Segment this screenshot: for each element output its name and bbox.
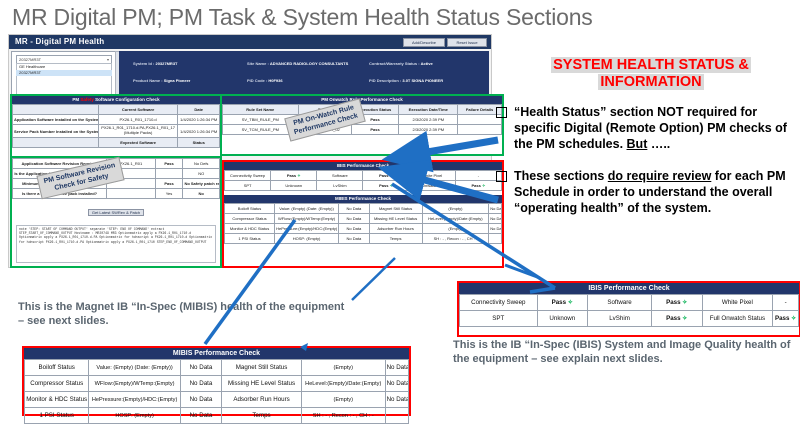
caption-ibis: This is the IB “In-Spec (IBIS) System an… [453,338,798,366]
mibis-inline-title: MIBIS Performance Check [224,195,502,203]
bullet-item-2: These sections do require review for eac… [496,168,796,216]
mibis-callout-title: MIBIS Performance Check [24,348,409,359]
status-star-icon: ✧ [297,173,300,178]
table-row: 1 PSI StatusHOSP: (Empty)No DataTempsSH … [225,234,502,244]
info-contract-status: Contract/Warranty Status : Active [369,61,433,66]
app-window-title: MR - Digital PM Health [15,37,104,46]
sw-config-title: PM Safety Software Configuration Check [12,96,220,104]
bullet-1-text: “Health Status” section NOT required for… [514,104,796,152]
get-latest-swrev-row: Get Latest SWRev & Patch [12,201,220,219]
annotation-title-line2: INFORMATION [598,74,703,90]
caption-mibis: This is the Magnet IB “In-Spec (MIBIS) h… [18,300,348,328]
mibis-callout-table: MIBIS Performance Check Boiloff StatusVa… [22,346,411,416]
reset-issue-button[interactable]: Reset Issue [447,38,487,47]
mibis-inline-table: Boiloff StatusValue: (Empty) (Date: (Emp… [224,203,502,244]
status-star-icon: ✧ [482,183,485,188]
status-star-icon: ✧ [568,299,573,306]
sw-config-subheader-row: Expected SoftwareStatus [13,138,220,148]
sw-config-table: Current SoftwareDate Application Softwar… [12,104,220,148]
arrow-ibis-callout-link [505,265,540,278]
table-row: 1 PSI StatusHOSP: (Empty)No DataTempsSH … [25,408,409,424]
command-output-log: note 'STEP: START OF COMMAND OUTPUT' sep… [16,225,216,263]
add-describe-button[interactable]: Add/Describe [403,38,445,47]
status-star-icon: ✧ [682,315,687,322]
table-row: SPT Unknown LvShim Pass ✧ Full Onwatch S… [225,181,502,191]
table-row: Service Pack Number Installed on the Sys… [13,125,220,138]
table-row: Connectivity Sweep Pass ✧ Software Pass … [225,171,502,181]
get-latest-swrev-button[interactable]: Get Latest SWRev & Patch [88,209,144,216]
table-row: Monitor & HDC StatusHePressure:(Empty)/H… [225,224,502,234]
section-onwatch-rule-check: PM Onwatch Rule Performance Check Rule S… [220,94,504,156]
ibis-inline-table: Connectivity Sweep Pass ✧ Software Pass … [224,170,502,191]
chevron-down-icon[interactable]: ▾ [107,56,109,63]
mibis-callout-grid: Boiloff StatusValue: (Empty) (Date: (Emp… [24,359,409,424]
table-row: Boiloff StatusValue: (Empty) (Date: (Emp… [25,360,409,376]
bullet-2-text: These sections do require review for eac… [514,168,796,216]
table-row: Boiloff StatusValue: (Empty) (Date: (Emp… [225,204,502,214]
ibis-callout-grid: Connectivity Sweep Pass ✧ Software Pass … [459,294,799,327]
annotation-title: SYSTEM HEALTH STATUS & INFORMATION [512,57,790,91]
sw-config-header-row: Current SoftwareDate [13,105,220,115]
onwatch-title: PM Onwatch Rule Performance Check [222,96,502,104]
status-star-icon: ✧ [682,299,687,306]
info-pid-description: PID Description : 3.0T SIGNA PIONEER [369,78,443,83]
system-select-value: 20327MR3T [19,57,41,62]
ibis-inline-title: IBIS Performance Check [224,162,502,170]
info-product-name: Product Name : Signa Pioneer [133,78,190,83]
table-row: Application Software Installed on the Sy… [13,115,220,125]
table-row: Connectivity Sweep Pass ✧ Software Pass … [460,295,799,311]
section-software-config-check: PM Safety Software Configuration Check C… [10,94,222,158]
table-row: Monitor & HDC StatusHePressure:(Empty)/H… [25,392,409,408]
annotation-title-line1: SYSTEM HEALTH STATUS & [551,57,751,73]
status-star-icon: ✧ [390,183,393,188]
section-system-health-status: IBIS Performance Check Connectivity Swee… [222,160,504,268]
ibis-callout-table: IBIS Performance Check Connectivity Swee… [457,281,800,337]
table-row: Compressor StatusWFlow:(Empty)/WTemp:(Em… [225,214,502,224]
checkbox-bullet-icon [496,107,507,118]
table-row: Compressor StatusWFlow:(Empty)/WTemp:(Em… [25,376,409,392]
table-row: SV_TCM_RULE_PMHR2000_704_02Pass2/3/2020 … [223,125,502,135]
app-titlebar: MR - Digital PM Health Add/Describe Rese… [9,35,491,49]
status-star-icon: ✧ [791,315,796,322]
info-pid-code: PID Code : H0F936 [247,78,283,83]
tree-item-1[interactable]: 20327MR3T [16,70,112,76]
checkbox-bullet-icon [496,171,507,182]
bullet-item-1: “Health Status” section NOT required for… [496,104,796,152]
info-system-id: System Id : 20327MR3T [133,61,177,66]
table-row: SPT Unknown LvShim Pass ✧ Full Onwatch S… [460,311,799,327]
status-star-icon: ✧ [390,173,393,178]
info-site-name: Site Name : ADVANCED RADIOLOGY CONSULTAN… [247,61,348,66]
ibis-callout-title: IBIS Performance Check [459,283,799,294]
page-title: MR Digital PM; PM Task & System Health S… [12,4,742,31]
